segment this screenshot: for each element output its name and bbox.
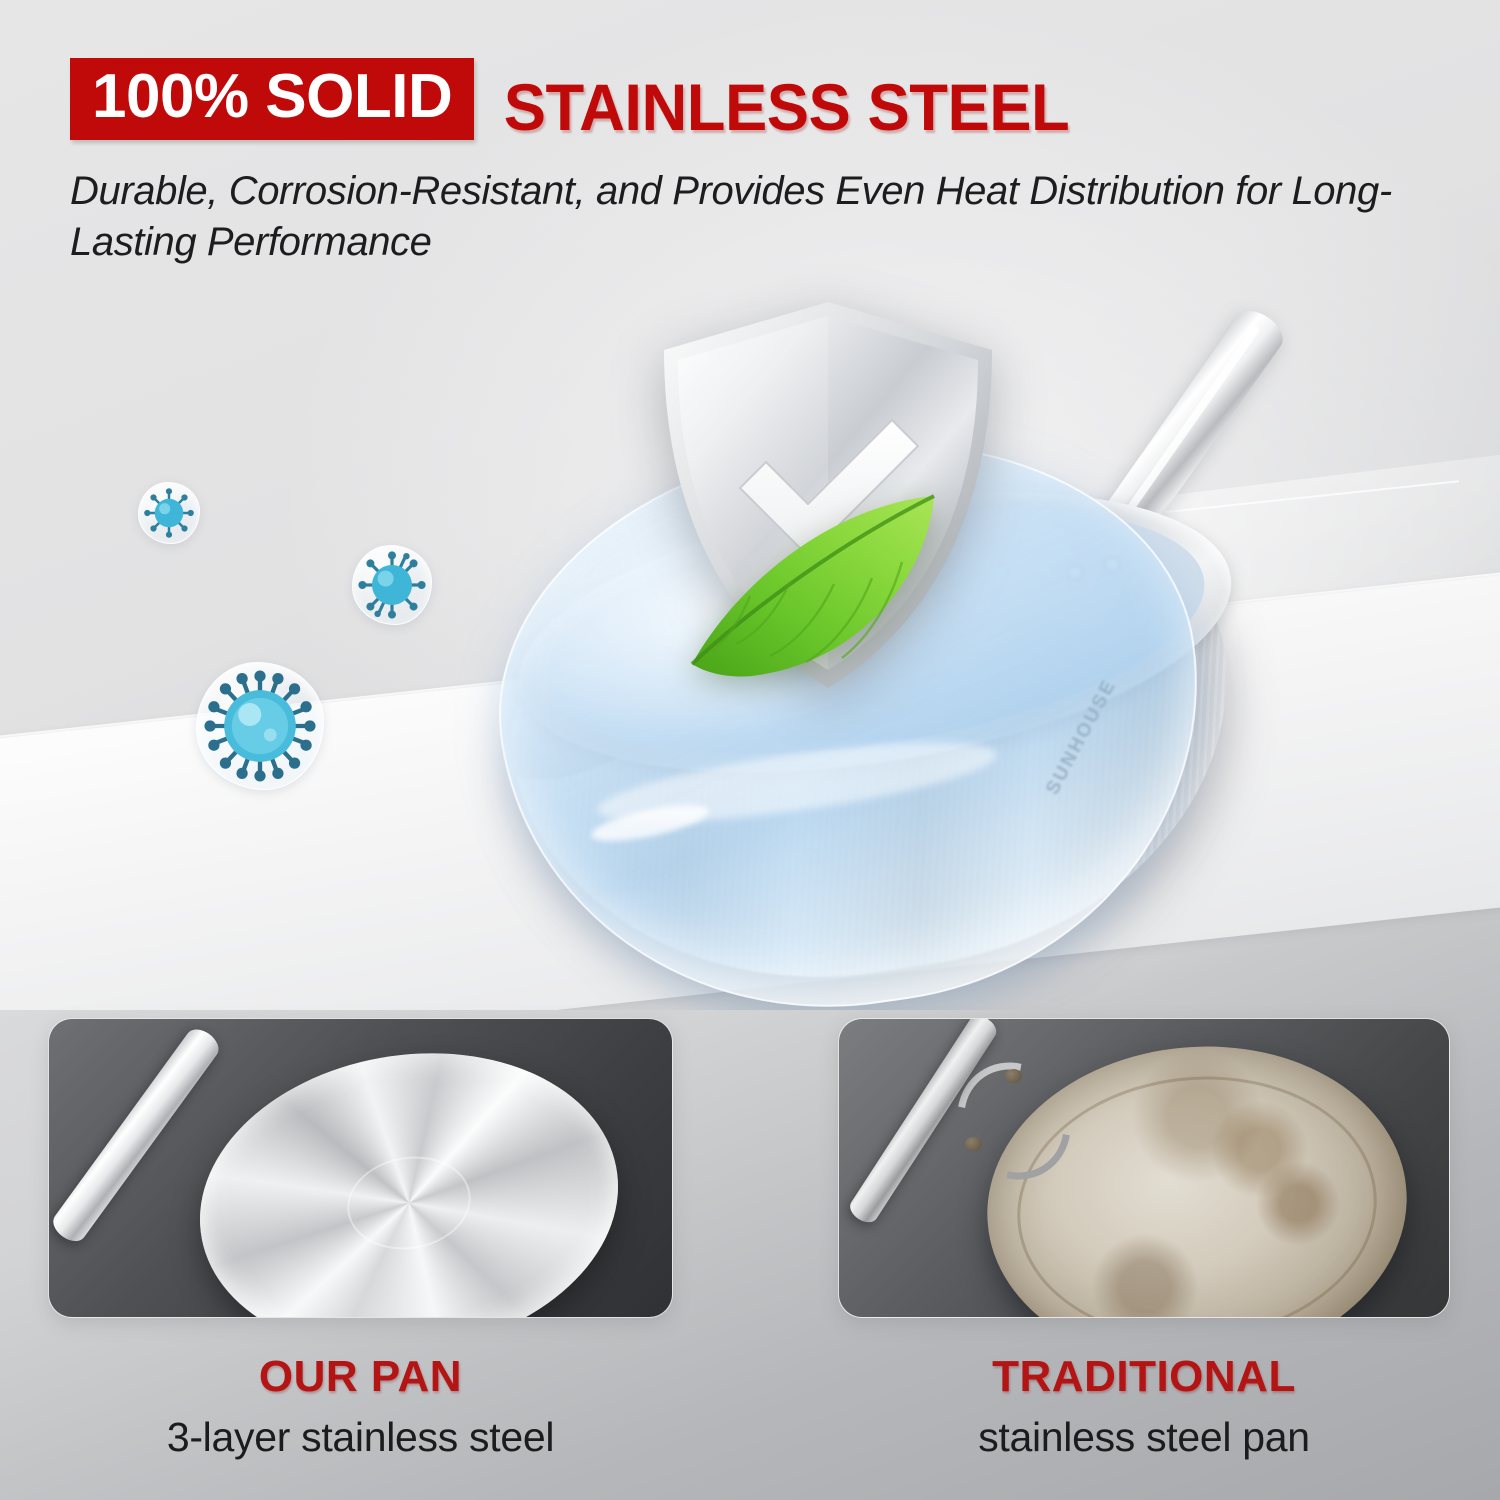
comparison-section: OUR PAN 3-layer stainless steel TRADITIO… [0, 1018, 1500, 1500]
pan-rivet [1005, 1069, 1022, 1083]
green-leaf-icon [682, 486, 952, 686]
our-pan-title: OUR PAN [48, 1352, 673, 1402]
shield-badge-group [648, 296, 1008, 696]
germ-bubble-large [196, 662, 324, 790]
our-pan-subtitle: 3-layer stainless steel [48, 1414, 673, 1461]
headline-row: 100% SOLID STAINLESS STEEL [70, 58, 1430, 140]
germ-bubble-small [138, 482, 200, 544]
traditional-pan-title: TRADITIONAL [838, 1352, 1450, 1402]
headline-subtitle: Durable, Corrosion-Resistant, and Provid… [70, 166, 1410, 268]
virus-icon [196, 662, 324, 790]
headline-block: 100% SOLID STAINLESS STEEL Durable, Corr… [0, 0, 1500, 268]
germ-bubble-medium [352, 545, 432, 625]
pan-rivet [965, 1137, 982, 1151]
comparison-right-column: TRADITIONAL stainless steel pan [838, 1018, 1450, 1461]
product-marketing-poster: SUNHOUSE [0, 0, 1500, 1500]
our-pan-image-card [48, 1018, 673, 1318]
traditional-pan-subtitle: stainless steel pan [838, 1414, 1450, 1461]
comparison-left-column: OUR PAN 3-layer stainless steel [48, 1018, 673, 1461]
virus-icon [352, 545, 432, 625]
traditional-pan-image-card [838, 1018, 1450, 1318]
virus-icon [138, 482, 200, 544]
headline-title: STAINLESS STEEL [504, 74, 1069, 140]
solid-badge: 100% SOLID [70, 58, 474, 140]
clean-pan-edge-highlight [192, 1033, 625, 1318]
clean-pan-handle [48, 1024, 224, 1247]
